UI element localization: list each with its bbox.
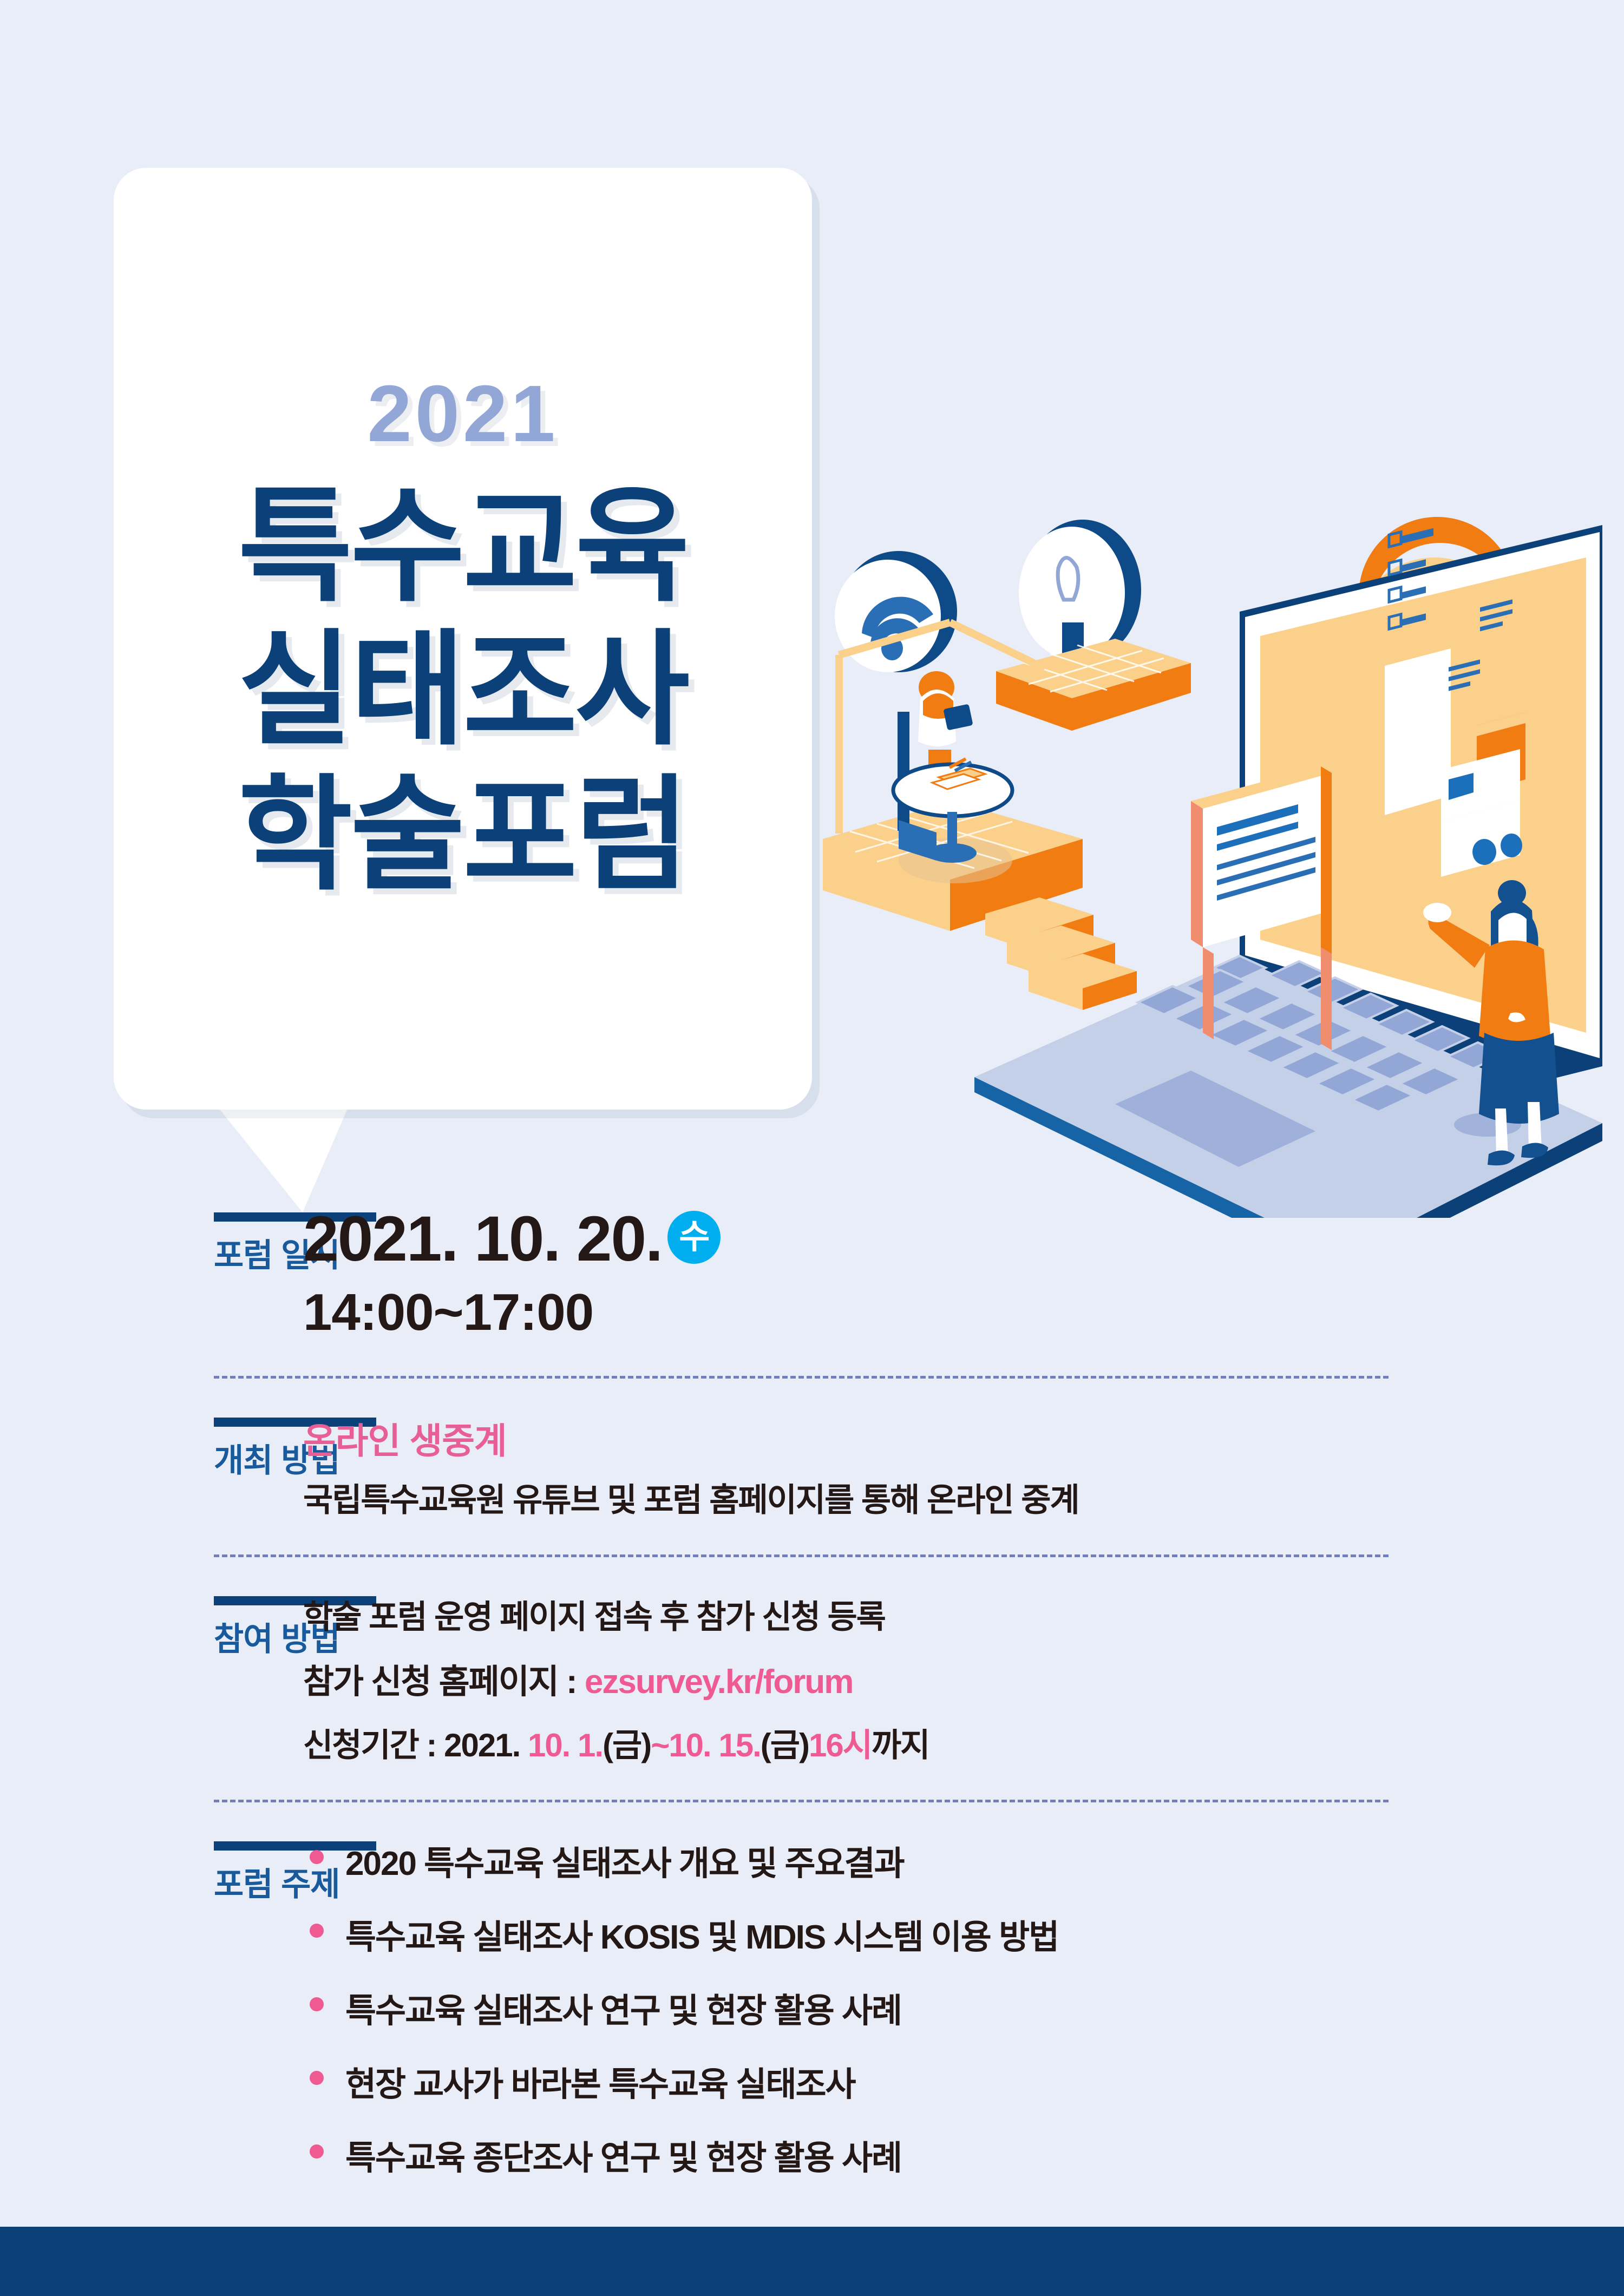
divider-2 <box>214 1554 1389 1557</box>
bottom-bar <box>0 2227 1624 2296</box>
value-col-topics: 2020 특수교육 실태조사 개요 및 주요결과특수교육 실태조사 KOSIS … <box>303 1836 1624 2204</box>
method-headline: 온라인 생중계 <box>303 1412 1559 1464</box>
signup-end-day: (금) <box>761 1727 809 1763</box>
method-detail: 국립특수교육원 유튜브 및 포럼 홈페이지를 통해 온라인 중계 <box>303 1474 1559 1521</box>
signup-period-label: 신청기간 : 2021. <box>303 1727 528 1763</box>
section-datetime: 포럼 일시 2021. 10. 20. 수 14:00~17:00 <box>0 1207 1624 1342</box>
forum-date-row: 2021. 10. 20. 수 <box>303 1207 1559 1271</box>
divider-3 <box>214 1800 1389 1802</box>
spacer <box>0 1342 1624 1376</box>
section-topics: 포럼 주제 2020 특수교육 실태조사 개요 및 주요결과특수교육 실태조사 … <box>0 1836 1624 2204</box>
signup-end-hour: 16시 <box>809 1727 872 1763</box>
platform-upper <box>996 639 1191 731</box>
label-col-topics: 포럼 주제 <box>0 1836 303 2204</box>
topic-item: 특수교육 종단조사 연구 및 현장 활용 사례 <box>303 2130 1559 2179</box>
participation-line-3: 신청기간 : 2021. 10. 1.(금)~10. 15.(금)16시까지 <box>303 1719 1559 1766</box>
poster-canvas: 2021 특수교육 실태조사 학술포럼 포럼 일시 2021. 10. 20. … <box>0 0 1624 2296</box>
topic-item: 2020 특수교육 실태조사 개요 및 주요결과 <box>303 1836 1559 1885</box>
participation-line-1: 학술 포럼 운영 페이지 접속 후 참가 신청 등록 <box>303 1591 1559 1638</box>
poster-year: 2021 <box>114 368 812 460</box>
label-col-participation: 참여 방법 <box>0 1591 303 1766</box>
value-col-participation: 학술 포럼 운영 페이지 접속 후 참가 신청 등록 참가 신청 홈페이지 : … <box>303 1591 1624 1766</box>
speech-bubble: 2021 특수교육 실태조사 학술포럼 <box>114 168 812 1110</box>
spacer <box>0 1379 1624 1412</box>
spacer <box>0 1802 1624 1836</box>
poster-title-line-2: 실태조사 <box>114 628 812 752</box>
topic-item: 특수교육 실태조사 연구 및 현장 활용 사례 <box>303 1983 1559 2032</box>
signup-start-day: (금) <box>603 1727 651 1763</box>
topic-item: 현장 교사가 바라본 특수교육 실태조사 <box>303 2057 1559 2105</box>
value-col-method: 온라인 생중계 국립특수교육원 유튜브 및 포럼 홈페이지를 통해 온라인 중계 <box>303 1412 1624 1521</box>
section-method: 개최 방법 온라인 생중계 국립특수교육원 유튜브 및 포럼 홈페이지를 통해 … <box>0 1412 1624 1521</box>
label-col-method: 개최 방법 <box>0 1412 303 1521</box>
forum-time: 14:00~17:00 <box>303 1283 1559 1342</box>
info-panel: 포럼 일시 2021. 10. 20. 수 14:00~17:00 개최 방법 <box>0 1207 1624 2204</box>
spacer <box>0 1766 1624 1800</box>
isometric-illustration <box>812 460 1624 1218</box>
spacer <box>0 1521 1624 1554</box>
value-col-datetime: 2021. 10. 20. 수 14:00~17:00 <box>303 1207 1624 1342</box>
signup-start-date: 10. 1. <box>528 1727 603 1763</box>
spacer <box>0 1557 1624 1591</box>
signup-end-date: 10. 15. <box>669 1727 761 1763</box>
label-col-datetime: 포럼 일시 <box>0 1207 303 1342</box>
signup-end-suffix: 까지 <box>872 1727 929 1763</box>
divider-1 <box>214 1376 1389 1379</box>
stairs <box>985 897 1137 1010</box>
participation-line-2: 참가 신청 홈페이지 : ezsurvey.kr/forum <box>303 1654 1559 1703</box>
signup-url[interactable]: ezsurvey.kr/forum <box>585 1663 853 1701</box>
signup-site-label: 참가 신청 홈페이지 : <box>303 1663 585 1701</box>
poster-title-line-3: 학술포럼 <box>114 773 812 897</box>
topic-list: 2020 특수교육 실태조사 개요 및 주요결과특수교육 실태조사 KOSIS … <box>303 1836 1559 2179</box>
weekday-badge: 수 <box>667 1211 721 1264</box>
signup-range-tilde: ~ <box>651 1727 669 1763</box>
poster-title-line-1: 특수교육 <box>114 484 812 609</box>
section-participation: 참여 방법 학술 포럼 운영 페이지 접속 후 참가 신청 등록 참가 신청 홈… <box>0 1591 1624 1766</box>
topic-item: 특수교육 실태조사 KOSIS 및 MDIS 시스템 이용 방법 <box>303 1910 1559 1958</box>
forum-date: 2021. 10. 20. <box>303 1207 662 1271</box>
